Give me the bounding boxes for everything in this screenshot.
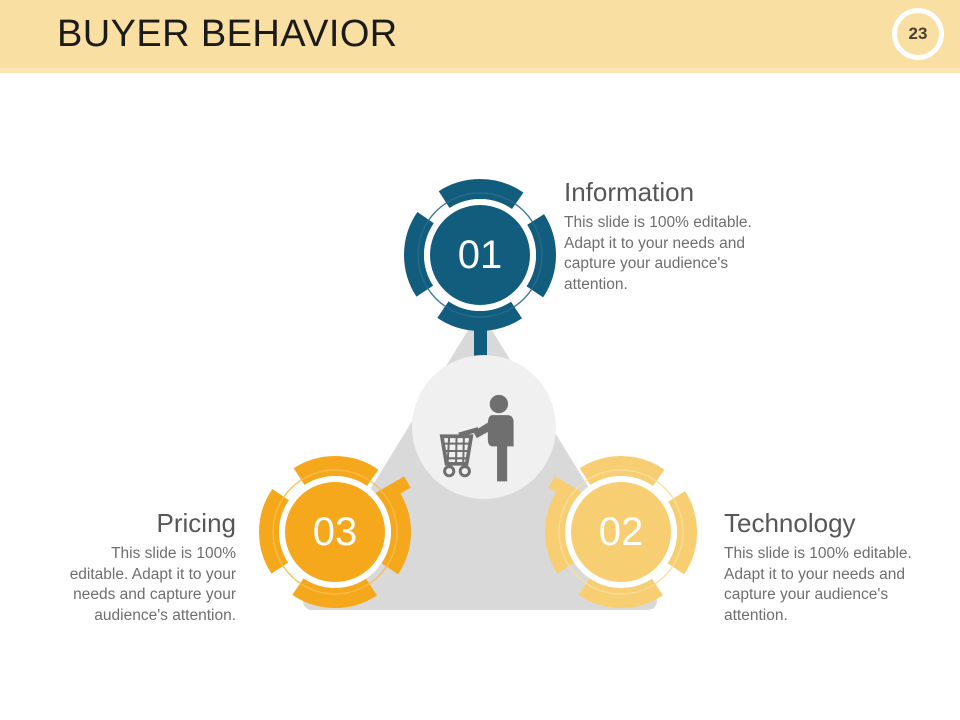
page-title: BUYER BEHAVIOR — [57, 10, 398, 58]
node-03-number: 03 — [313, 510, 358, 554]
node-02-number: 02 — [599, 510, 644, 554]
node-02-body: This slide is 100% editable. Adapt it to… — [724, 544, 924, 626]
node-02-heading: Technology — [724, 507, 924, 539]
node-02-text-block: Technology This slide is 100% editable. … — [724, 507, 924, 626]
node-03-text-block: Pricing This slide is 100% editable. Ada… — [66, 507, 236, 626]
slide-canvas: BUYER BEHAVIOR 23 — [0, 0, 960, 720]
three-step-circle-diagram: 01 03 02 Information This slide is 100% … — [0, 73, 960, 720]
node-01-number: 01 — [458, 233, 503, 277]
node-01-heading: Information — [564, 176, 774, 208]
node-03-body: This slide is 100% editable. Adapt it to… — [66, 544, 236, 626]
page-number-label: 23 — [909, 24, 928, 44]
node-01-body: This slide is 100% editable. Adapt it to… — [564, 213, 774, 295]
node-01-text-block: Information This slide is 100% editable.… — [564, 176, 774, 295]
page-number-badge: 23 — [892, 8, 944, 60]
node-03-heading: Pricing — [66, 507, 236, 539]
